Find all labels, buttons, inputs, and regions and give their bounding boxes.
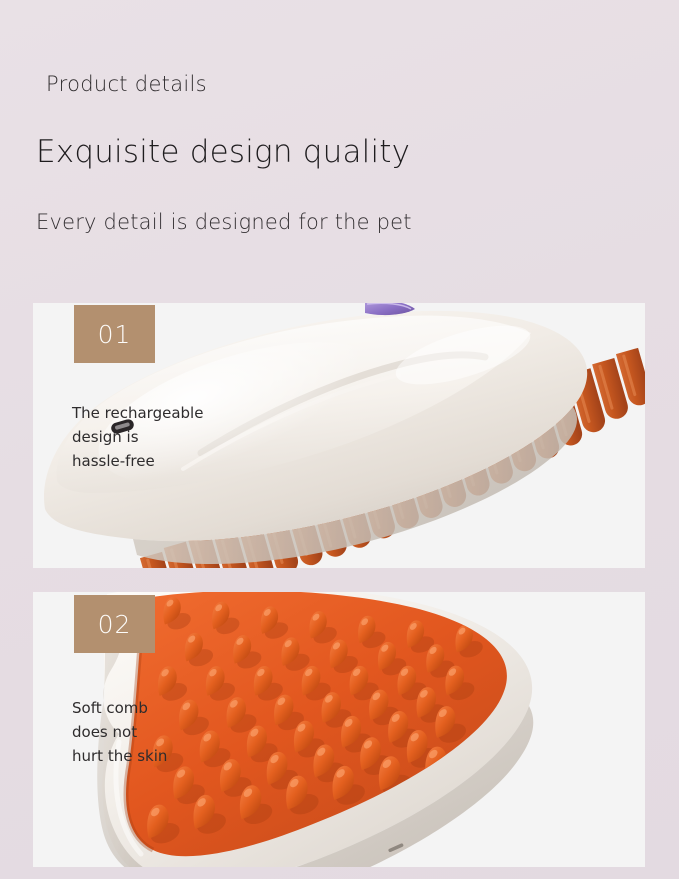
step-badge-01: 01 — [74, 305, 155, 363]
page-title: Exquisite design quality — [36, 134, 410, 170]
step-badge-02: 02 — [74, 595, 155, 653]
step-number: 01 — [98, 320, 132, 349]
feature-caption-1: The rechargeable design is hassle-free — [72, 401, 203, 473]
step-number: 02 — [98, 610, 132, 639]
page-subtitle: Every detail is designed for the pet — [36, 210, 412, 234]
product-details-page: Product details Exquisite design quality… — [0, 0, 679, 879]
feature-card-1: 01 The rechargeable design is hassle-fre… — [33, 303, 645, 568]
feature-caption-2: Soft comb does not hurt the skin — [72, 696, 167, 768]
feature-card-2: 02 Soft comb does not hurt the skin — [33, 592, 645, 867]
page-kicker: Product details — [46, 72, 207, 96]
